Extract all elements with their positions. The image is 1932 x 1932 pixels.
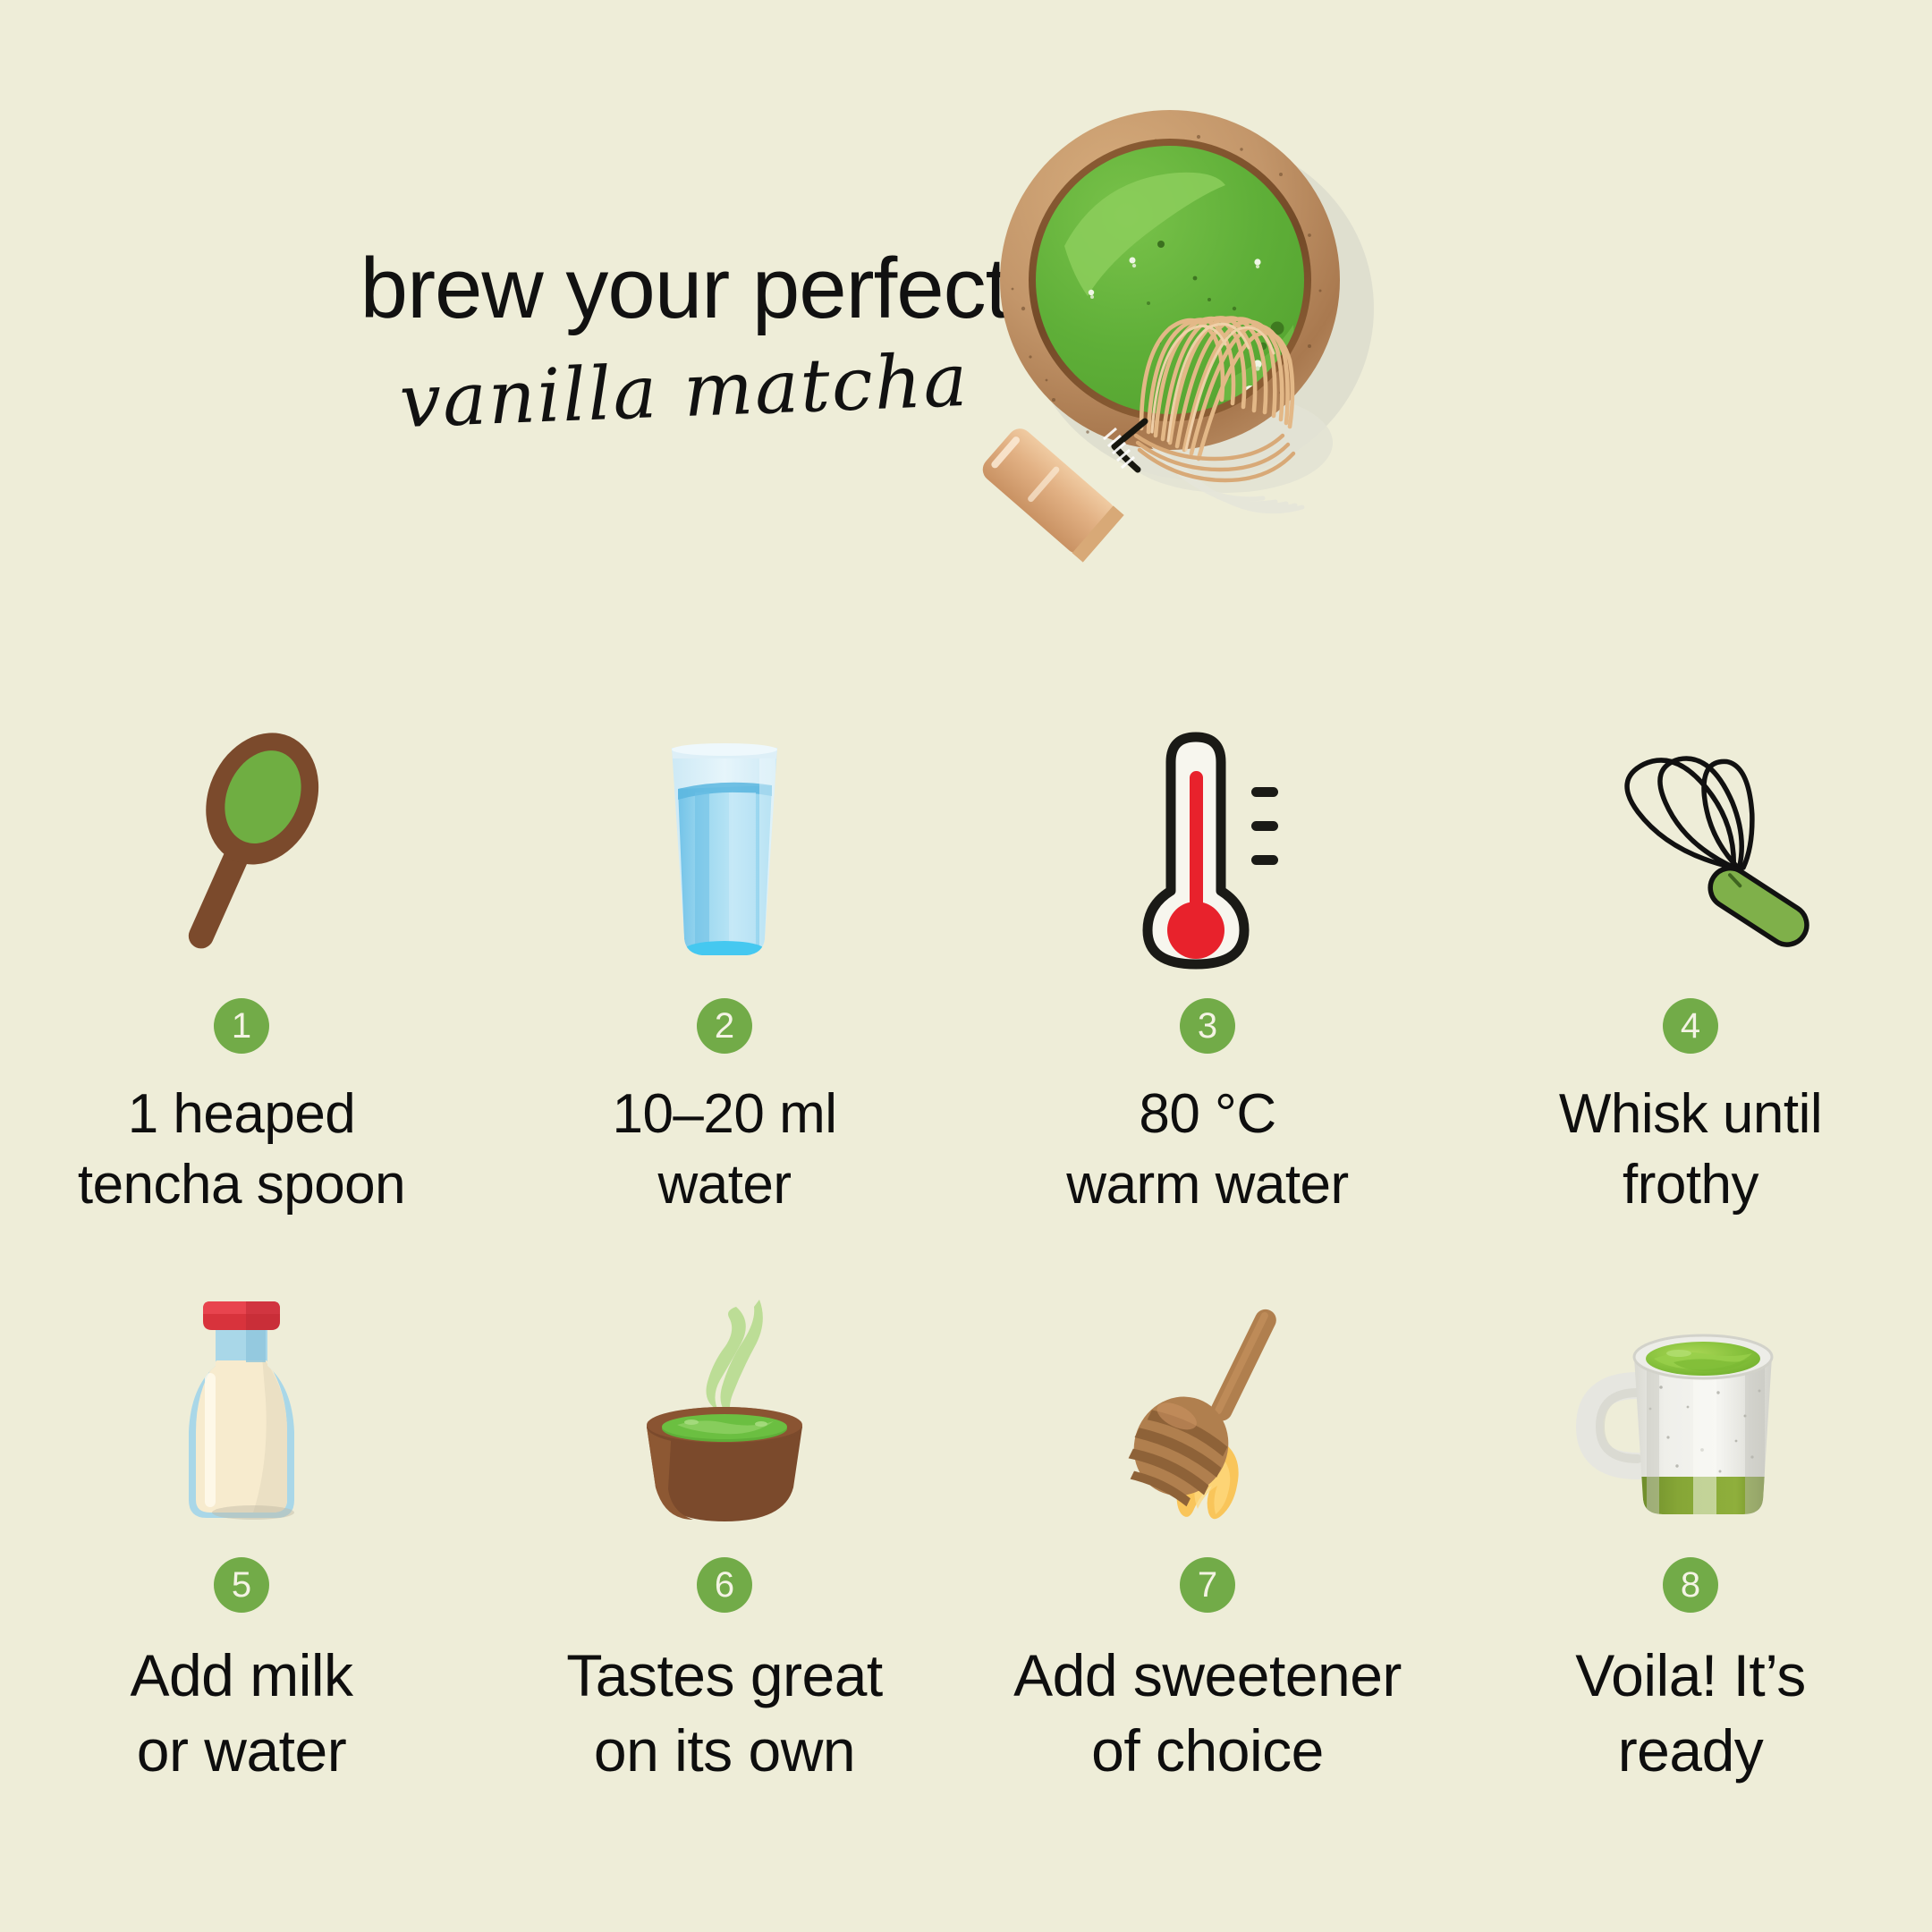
- step-2-illustration: [483, 707, 966, 975]
- step-8-illustration: [1449, 1266, 1932, 1534]
- step-item-5: 5 Add milk or water: [0, 1266, 483, 1789]
- step-2-badge: 2: [697, 998, 752, 1054]
- step-1-badge: 1: [214, 998, 269, 1054]
- step-6-badge: 6: [697, 1557, 752, 1613]
- step-3-label: 80 °C warm water: [1066, 1079, 1348, 1221]
- step-item-7: 7 Add sweetener of choice: [966, 1266, 1449, 1789]
- step-4-label: Whisk until frothy: [1559, 1079, 1822, 1221]
- step-3-badge: 3: [1180, 998, 1235, 1054]
- steps-row-1: 1 1 heaped tencha spoon: [0, 707, 1932, 1221]
- step-8-label: Voila! It’s ready: [1575, 1638, 1805, 1789]
- step-2-label: 10–20 ml water: [612, 1079, 836, 1221]
- step-5-illustration: [0, 1266, 483, 1534]
- hero-section: brew your perfect vanilla matcha: [0, 0, 1932, 707]
- step-item-2: 2 10–20 ml water: [483, 707, 966, 1221]
- step-7-illustration: [966, 1266, 1449, 1534]
- step-item-4: 4 Whisk until frothy: [1449, 707, 1932, 1221]
- matcha-bowl-icon: [930, 85, 1395, 586]
- step-item-8: 8 Voila! It’s ready: [1449, 1266, 1932, 1789]
- milk-bottle-icon: [112, 1275, 371, 1534]
- whisk-icon: [1561, 716, 1820, 975]
- step-1-label: 1 heaped tencha spoon: [78, 1079, 405, 1221]
- step-5-label: Add milk or water: [130, 1638, 352, 1789]
- step-4-badge: 4: [1663, 998, 1718, 1054]
- step-7-badge: 7: [1180, 1557, 1235, 1613]
- step-4-illustration: [1449, 707, 1932, 975]
- steps-row-2: 5 Add milk or water: [0, 1266, 1932, 1789]
- step-item-6: 6 Tastes great on its own: [483, 1266, 966, 1789]
- wooden-spoon-with-matcha-powder-icon: [112, 716, 371, 975]
- step-8-badge: 8: [1663, 1557, 1718, 1613]
- glass-of-water-icon: [595, 716, 854, 975]
- step-item-1: 1 1 heaped tencha spoon: [0, 707, 483, 1221]
- step-5-badge: 5: [214, 1557, 269, 1613]
- step-6-label: Tastes great on its own: [566, 1638, 883, 1789]
- step-7-label: Add sweetener of choice: [1013, 1638, 1402, 1789]
- step-1-illustration: [0, 707, 483, 975]
- step-6-illustration: [483, 1266, 966, 1534]
- steaming-matcha-bowl-icon: [595, 1275, 854, 1534]
- ceramic-mug-with-matcha-latte-icon: [1561, 1275, 1820, 1534]
- step-item-3: 3 80 °C warm water: [966, 707, 1449, 1221]
- honey-dipper-icon: [1078, 1275, 1337, 1534]
- step-3-illustration: [966, 707, 1449, 975]
- steps-grid: 1 1 heaped tencha spoon: [0, 707, 1932, 1789]
- thermometer-icon: [1078, 716, 1337, 975]
